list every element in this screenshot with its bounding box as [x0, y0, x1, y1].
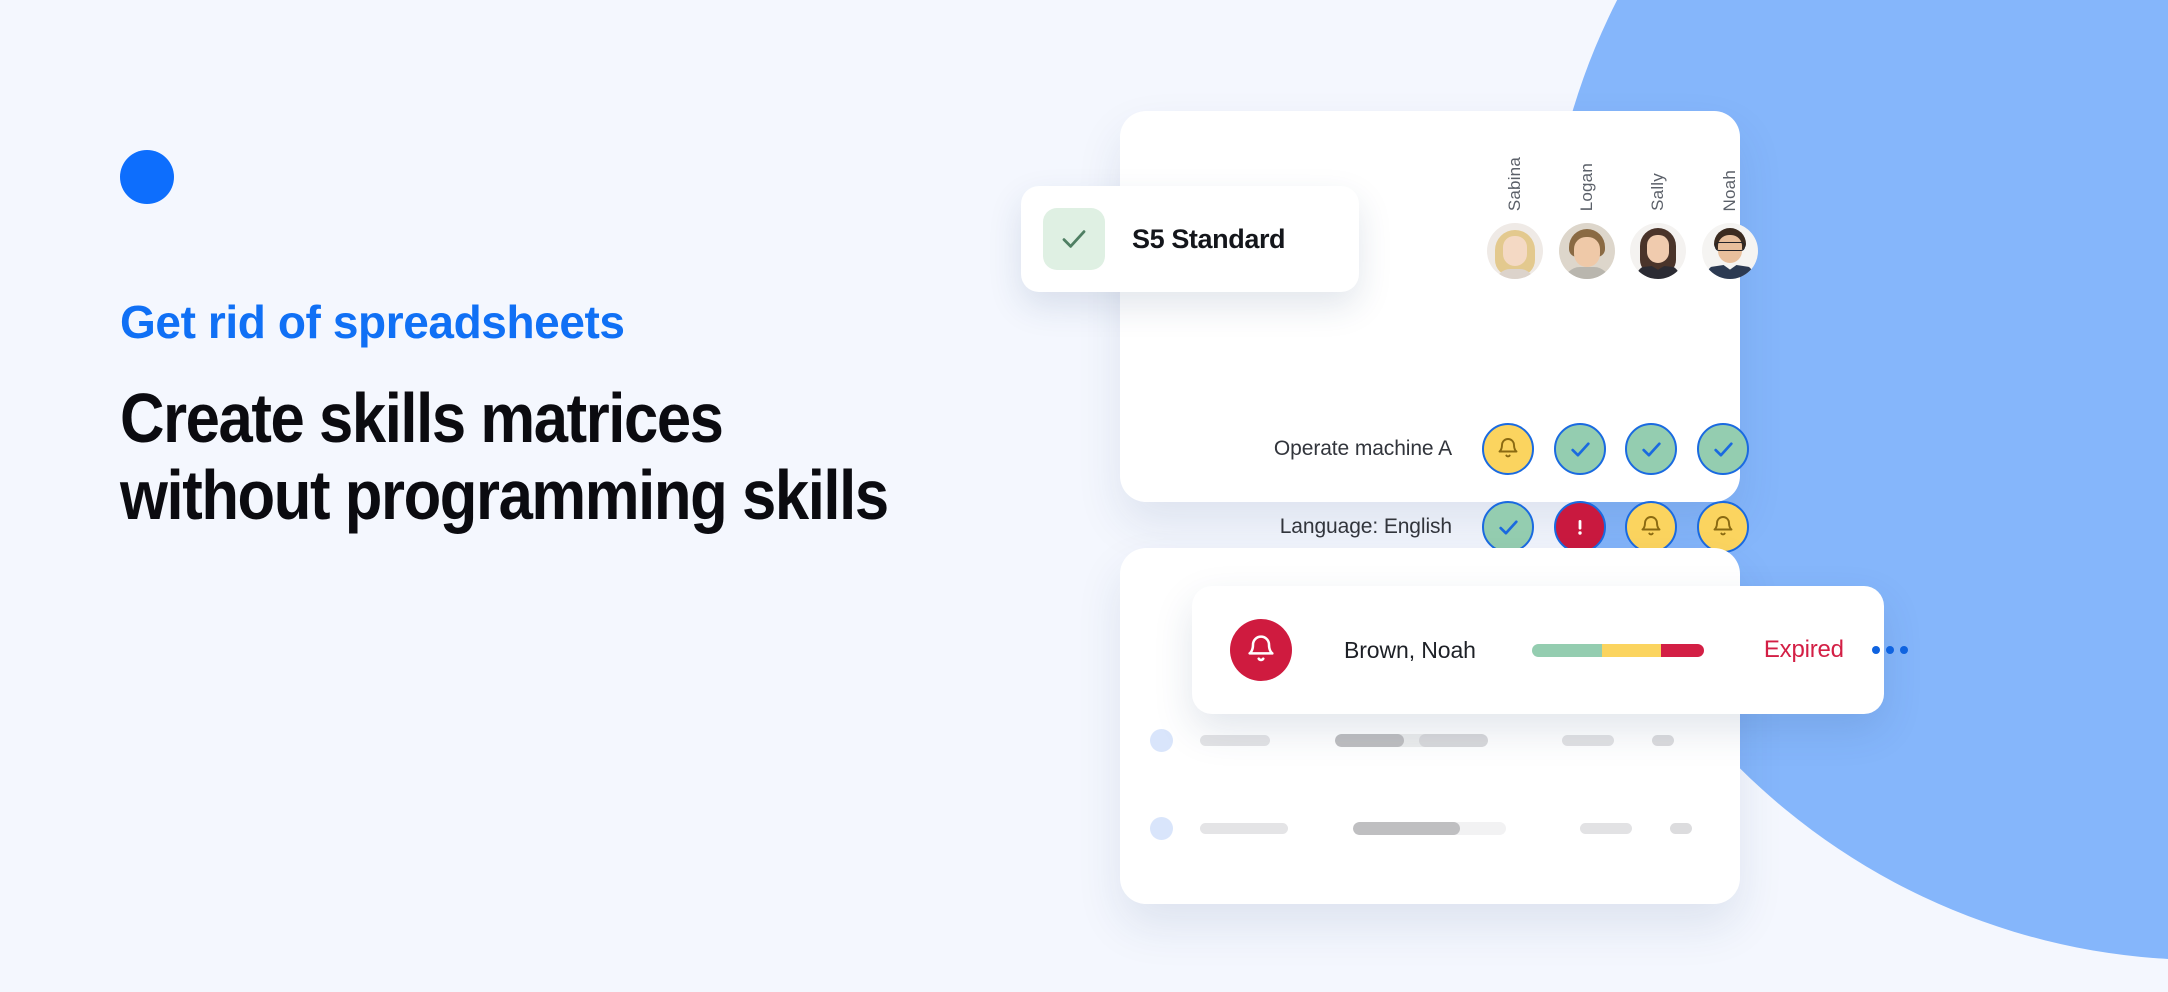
standard-check-tile: [1043, 208, 1105, 270]
person-column-logan[interactable]: Logan: [1558, 139, 1616, 279]
skill-label: Language: English: [1160, 515, 1480, 539]
matrix-people-header: Sabina Logan Sally: [1486, 139, 1722, 279]
placeholder-name: [1200, 823, 1288, 834]
person-name-label: Sabina: [1486, 139, 1544, 211]
placeholder-dot-icon: [1150, 817, 1173, 840]
status-badge: Expired: [1764, 636, 1844, 664]
status-badge-alert[interactable]: [1554, 501, 1606, 553]
status-badge-check[interactable]: [1554, 423, 1606, 475]
person-name-text: Sally: [1648, 173, 1668, 211]
skill-cells: [1480, 423, 1716, 475]
bell-icon: [1245, 634, 1277, 666]
check-icon: [1639, 437, 1664, 462]
check-icon: [1711, 437, 1736, 462]
skills-matrix-card: Sabina Logan Sally: [1120, 111, 1740, 502]
list-item: [1150, 727, 1712, 753]
person-name-label: Logan: [1558, 139, 1616, 211]
bell-icon: [1496, 437, 1520, 461]
status-badge-check[interactable]: [1697, 423, 1749, 475]
placeholder-name: [1200, 735, 1270, 746]
expiry-bell-badge: [1230, 619, 1292, 681]
status-badge-check[interactable]: [1625, 423, 1677, 475]
standard-label: S5 Standard: [1132, 224, 1285, 255]
expiry-person-name: Brown, Noah: [1344, 637, 1476, 664]
placeholder-progress: [1353, 822, 1506, 835]
placeholder-status: [1562, 735, 1614, 746]
skill-label: Operate machine A: [1160, 437, 1480, 461]
check-icon: [1058, 223, 1090, 255]
list-item: [1150, 815, 1712, 841]
hero-eyebrow: Get rid of spreadsheets: [120, 297, 1000, 348]
expiry-progress-bar: [1532, 644, 1704, 657]
placeholder-menu: [1670, 823, 1692, 834]
status-badge-check[interactable]: [1482, 501, 1534, 553]
avatar: [1630, 223, 1686, 279]
placeholder-status: [1580, 823, 1632, 834]
page-title: Create skills matrices without programmi…: [120, 380, 912, 534]
expiry-row-popover[interactable]: Brown, Noah Expired: [1192, 586, 1884, 714]
progress-segment-yellow: [1602, 644, 1660, 657]
avatar: [1559, 223, 1615, 279]
skill-cells: [1480, 501, 1716, 553]
person-name-text: Noah: [1720, 170, 1740, 211]
alert-icon: [1568, 515, 1592, 539]
person-column-noah[interactable]: Noah: [1701, 139, 1759, 279]
progress-segment-green: [1532, 644, 1603, 657]
placeholder-dot-icon: [1150, 729, 1173, 752]
placeholder-menu: [1652, 735, 1674, 746]
table-row: Language: English: [1160, 499, 1724, 555]
person-name-text: Sabina: [1505, 157, 1525, 211]
person-name-label: Noah: [1701, 139, 1759, 211]
bell-icon: [1639, 515, 1663, 539]
person-name-text: Logan: [1577, 163, 1597, 211]
status-badge-bell[interactable]: [1697, 501, 1749, 553]
avatar: [1487, 223, 1543, 279]
standard-chip[interactable]: S5 Standard: [1021, 186, 1359, 292]
person-column-sabina[interactable]: Sabina: [1486, 139, 1544, 279]
table-row: Operate machine A: [1160, 421, 1724, 477]
status-badge-bell[interactable]: [1625, 501, 1677, 553]
accent-dot-icon: [120, 150, 174, 204]
placeholder-progress: [1335, 734, 1488, 747]
check-icon: [1496, 515, 1521, 540]
hero-illustration: Get rid of spreadsheets Create skills ma…: [0, 0, 2168, 992]
status-badge-bell[interactable]: [1482, 423, 1534, 475]
bell-icon: [1711, 515, 1735, 539]
kebab-icon[interactable]: [1872, 646, 1908, 654]
glasses-icon: [1715, 242, 1745, 251]
person-column-sally[interactable]: Sally: [1629, 139, 1687, 279]
avatar: [1702, 223, 1758, 279]
person-name-label: Sally: [1629, 139, 1687, 211]
progress-segment-red: [1661, 644, 1704, 657]
check-icon: [1568, 437, 1593, 462]
hero-copy: Get rid of spreadsheets Create skills ma…: [120, 150, 1000, 534]
